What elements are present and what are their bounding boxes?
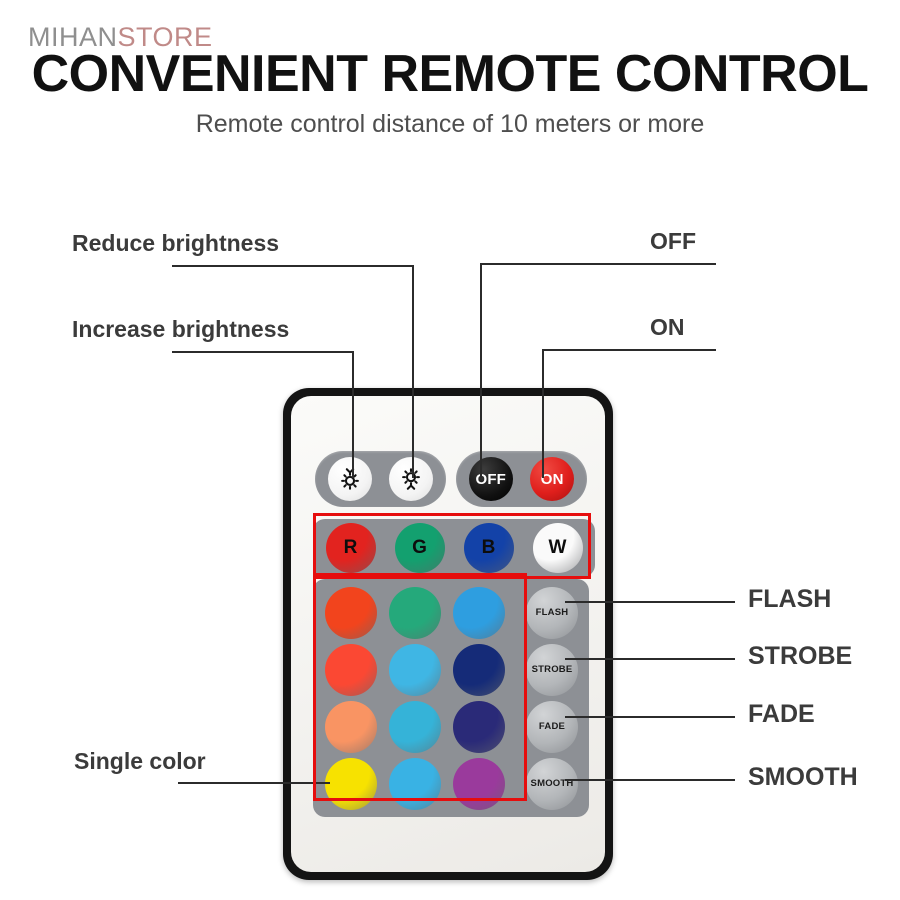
color-swatch-light-blue[interactable]	[389, 758, 441, 810]
mihanstore-watermark: MIHANSTORE	[28, 22, 213, 53]
callout-single-color: Single color	[74, 748, 206, 775]
color-swatch-sea-green[interactable]	[389, 587, 441, 639]
red-button[interactable]: R	[326, 523, 376, 573]
strobe-button[interactable]: STROBE	[526, 644, 578, 696]
color-swatch-salmon[interactable]	[325, 701, 377, 753]
sun-down-icon	[335, 464, 365, 494]
flash-button[interactable]: FLASH	[526, 587, 578, 639]
page-title: CONVENIENT REMOTE CONTROL	[0, 44, 900, 104]
color-swatch-orange-red[interactable]	[325, 587, 377, 639]
color-swatch-dark-indigo[interactable]	[453, 701, 505, 753]
fade-button[interactable]: FADE	[526, 701, 578, 753]
remote-faceplate: OFF ON R G B W FLASHSTROBEFADESMOOTH	[291, 396, 605, 872]
increase-brightness-button[interactable]	[389, 457, 433, 501]
brightness-pod	[315, 451, 446, 507]
infographic-canvas: MIHANSTORE CONVENIENT REMOTE CONTROL Rem…	[0, 0, 900, 900]
smooth-button[interactable]: SMOOTH	[526, 758, 578, 810]
mode-button-column: FLASHSTROBEFADESMOOTH	[519, 584, 585, 812]
color-swatch-yellow[interactable]	[325, 758, 377, 810]
page-subtitle: Remote control distance of 10 meters or …	[0, 110, 900, 139]
watermark-part-1: MIHAN	[28, 22, 118, 52]
reduce-brightness-button[interactable]	[328, 457, 372, 501]
color-swatch-navy[interactable]	[453, 644, 505, 696]
white-button[interactable]: W	[533, 523, 583, 573]
remote-control-device: OFF ON R G B W FLASHSTROBEFADESMOOTH	[283, 388, 613, 880]
callout-on: ON	[650, 314, 685, 341]
label-smooth: SMOOTH	[748, 763, 858, 792]
label-flash: FLASH	[748, 585, 831, 614]
watermark-part-2: STORE	[118, 22, 213, 52]
color-swatch-sky-blue[interactable]	[389, 644, 441, 696]
top-button-row: OFF ON	[315, 451, 587, 507]
color-swatch-purple[interactable]	[453, 758, 505, 810]
color-swatch-cyan-blue[interactable]	[389, 701, 441, 753]
blue-button[interactable]: B	[464, 523, 514, 573]
rgbw-button-row: R G B W	[313, 519, 595, 577]
lower-button-pad: FLASHSTROBEFADESMOOTH	[313, 579, 589, 817]
color-swatch-azure[interactable]	[453, 587, 505, 639]
label-fade: FADE	[748, 700, 815, 729]
on-button[interactable]: ON	[530, 457, 574, 501]
callout-off: OFF	[650, 228, 696, 255]
label-strobe: STROBE	[748, 642, 852, 671]
sun-up-icon	[396, 464, 426, 494]
callout-reduce-brightness: Reduce brightness	[72, 230, 279, 257]
callout-increase-brightness: Increase brightness	[72, 316, 289, 343]
off-button[interactable]: OFF	[469, 457, 513, 501]
color-swatch-tomato[interactable]	[325, 644, 377, 696]
green-button[interactable]: G	[395, 523, 445, 573]
single-color-grid	[319, 584, 511, 812]
power-pod: OFF ON	[456, 451, 587, 507]
